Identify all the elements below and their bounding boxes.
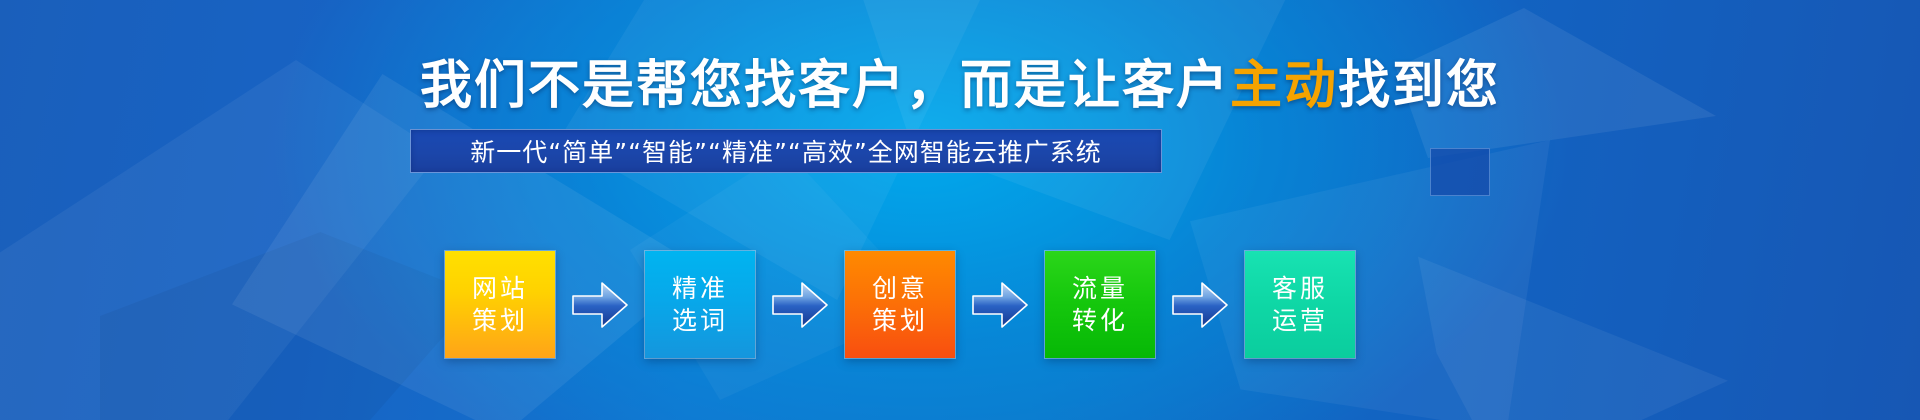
headline-part-2: 找到您 bbox=[1338, 57, 1500, 115]
arrow-right-icon bbox=[571, 279, 629, 331]
decorative-polygon-9 bbox=[100, 232, 480, 420]
flow-step-label-line2: 策划 bbox=[872, 305, 928, 336]
flow-step-website-planning[interactable]: 网站 策划 bbox=[445, 251, 555, 358]
subtitle-text: 新一代“简单”“智能”“精准”“高效”全网智能云推广系统 bbox=[470, 133, 1102, 169]
subtitle-bar: 新一代“简单”“智能”“精准”“高效”全网智能云推广系统 bbox=[410, 129, 1162, 173]
flow-step-label-line1: 网站 bbox=[472, 273, 528, 304]
arrow-right-icon bbox=[971, 279, 1029, 331]
flow-step-label-line1: 客服 bbox=[1272, 273, 1328, 304]
flow-step-label-line2: 选词 bbox=[672, 305, 728, 336]
flow-step-label-line2: 策划 bbox=[472, 305, 528, 336]
flow-step-label-line1: 创意 bbox=[872, 273, 928, 304]
decorative-polygon-6 bbox=[1396, 8, 1716, 308]
headline-part-1: 我们不是帮您找客户，而是让客户 bbox=[420, 57, 1230, 115]
decorative-polygon-5 bbox=[1190, 140, 1550, 420]
decorative-polygon-7 bbox=[1418, 252, 1728, 420]
flow-step-label-line1: 精准 bbox=[672, 273, 728, 304]
flow-step-creative-planning[interactable]: 创意 策划 bbox=[845, 251, 955, 358]
flow-step-label-line1: 流量 bbox=[1072, 273, 1128, 304]
decorative-polygon-4 bbox=[860, 0, 1290, 240]
process-flow: 网站 策划 精准 选词 bbox=[445, 222, 1225, 387]
flow-step-keyword-selection[interactable]: 精准 选词 bbox=[645, 251, 755, 358]
flow-step-traffic-conversion[interactable]: 流量 转化 bbox=[1045, 251, 1155, 358]
flow-step-label-line2: 转化 bbox=[1072, 305, 1128, 336]
headline-accent-text: 主动 bbox=[1230, 57, 1338, 115]
flow-step-service-operations[interactable]: 客服 运营 bbox=[1245, 251, 1355, 358]
flow-step-label-line2: 运营 bbox=[1272, 305, 1328, 336]
decorative-square-badge bbox=[1430, 148, 1490, 196]
arrow-right-icon bbox=[771, 279, 829, 331]
promo-banner: 我们不是帮您找客户，而是让客户主动找到您 新一代“简单”“智能”“精准”“高效”… bbox=[0, 0, 1920, 420]
arrow-right-icon bbox=[1171, 279, 1229, 331]
banner-headline: 我们不是帮您找客户，而是让客户主动找到您 bbox=[0, 57, 1920, 117]
